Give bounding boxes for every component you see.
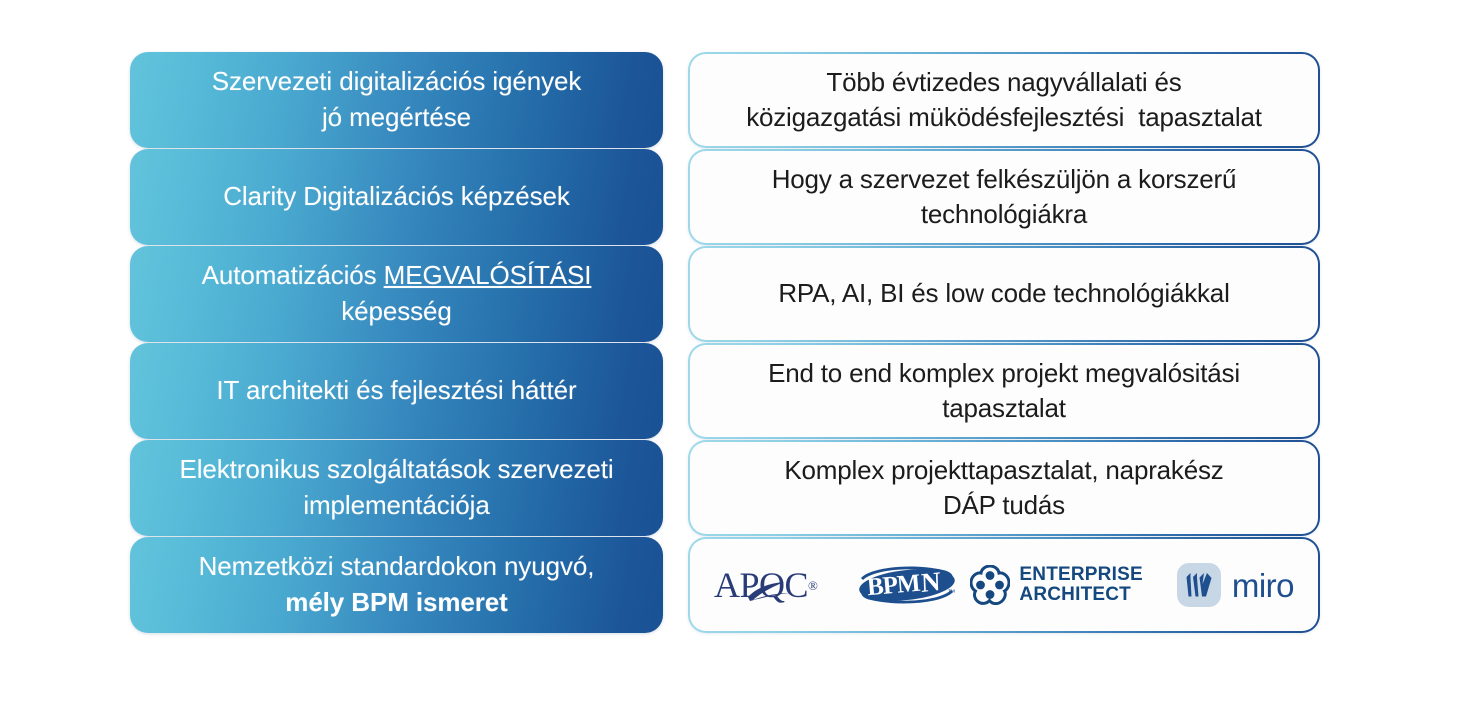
detail-card-inner: End to end komplex projekt megvalósitási… — [690, 345, 1318, 437]
enterprise-architect-clover-icon — [970, 565, 1010, 605]
detail-card[interactable]: Hogy a szervezet felkészüljön a korszerű… — [688, 149, 1320, 245]
pill-line-1: Nemzetközi standardokon nyugvó, — [199, 551, 595, 581]
detail-card-text: RPA, AI, BI és low code technológiákkal — [778, 276, 1229, 311]
capability-pill[interactable]: Elektronikus szolgáltatások szervezeti i… — [130, 440, 663, 536]
detail-card-text: Több évtizedes nagyvállalati és közigazg… — [746, 65, 1262, 136]
capability-row: Elektronikus szolgáltatások szervezeti i… — [0, 440, 1472, 536]
pill-line-1-prefix: Automatizációs — [202, 260, 384, 290]
miro-tile — [1177, 563, 1221, 607]
pill-line-1: Elektronikus szolgáltatások szervezeti — [179, 454, 613, 484]
capability-pill-text: IT architekti és fejlesztési háttér — [216, 373, 576, 409]
miro-logo: miro — [1177, 563, 1294, 607]
slide-canvas: Szervezeti digitalizációs igények jó meg… — [0, 0, 1472, 704]
capability-pill[interactable]: Nemzetközi standardokon nyugvó, mély BPM… — [130, 537, 663, 633]
detail-card[interactable]: RPA, AI, BI és low code technológiákkal — [688, 246, 1320, 342]
detail-card[interactable]: Komplex projekttapasztalat, naprakész DÁ… — [688, 440, 1320, 536]
detail-card-logos[interactable]: APQC® BPM N ™ — [688, 537, 1320, 633]
capability-pill-text: Automatizációs MEGVALÓSÍTÁSI képesség — [202, 258, 592, 329]
bpm-plus-logo: BPM N ™ — [857, 562, 936, 608]
miro-wordmark: miro — [1232, 569, 1294, 602]
bpm-trademark: ™ — [947, 588, 955, 597]
capability-pill[interactable]: Automatizációs MEGVALÓSÍTÁSI képesség — [130, 246, 663, 342]
detail-card-inner: Komplex projekttapasztalat, naprakész DÁ… — [690, 442, 1318, 534]
capability-pill-text: Clarity Digitalizációs képzések — [223, 179, 570, 215]
bpm-n-mark: N — [921, 568, 941, 597]
capability-rows: Szervezeti digitalizációs igények jó meg… — [0, 0, 1472, 704]
logo-strip: APQC® BPM N ™ — [690, 539, 1318, 631]
pill-line-1: Szervezeti digitalizációs igények — [212, 66, 582, 96]
ea-line-1: ENTERPRISE — [1019, 565, 1142, 585]
detail-card-text: Hogy a szervezet felkészüljön a korszerű… — [772, 162, 1237, 233]
capability-row: Nemzetközi standardokon nyugvó, mély BPM… — [0, 537, 1472, 633]
capability-row: Automatizációs MEGVALÓSÍTÁSI képesség RP… — [0, 246, 1472, 342]
apqc-logo: APQC® — [714, 567, 823, 603]
detail-card[interactable]: End to end komplex projekt megvalósitási… — [688, 343, 1320, 439]
apqc-registered-mark: ® — [808, 579, 817, 592]
capability-pill[interactable]: Szervezeti digitalizációs igények jó meg… — [130, 52, 663, 148]
capability-pill[interactable]: IT architekti és fejlesztési háttér — [130, 343, 663, 439]
detail-card-inner: Hogy a szervezet felkészüljön a korszerű… — [690, 151, 1318, 243]
pill-line-1: IT architekti és fejlesztési háttér — [216, 375, 576, 405]
miro-m-icon — [1185, 572, 1213, 598]
pill-line-2: jó megértése — [212, 100, 582, 136]
capability-pill-text: Szervezeti digitalizációs igények jó meg… — [212, 64, 582, 135]
detail-card-text: Komplex projekttapasztalat, naprakész DÁ… — [784, 453, 1223, 524]
capability-row: Clarity Digitalizációs képzések Hogy a s… — [0, 149, 1472, 245]
apqc-swash-icon — [747, 580, 791, 602]
enterprise-architect-wordmark: ENTERPRISE ARCHITECT — [1019, 565, 1142, 605]
ea-line-2: ARCHITECT — [1019, 585, 1142, 605]
pill-line-2: mély BPM ismeret — [199, 585, 595, 621]
capability-row: IT architekti és fejlesztési háttér End … — [0, 343, 1472, 439]
pill-line-2: implementációja — [179, 488, 613, 524]
capability-pill[interactable]: Clarity Digitalizációs képzések — [130, 149, 663, 245]
detail-card-inner: Több évtizedes nagyvállalati és közigazg… — [690, 54, 1318, 146]
bpm-wordmark: BPM — [866, 571, 921, 600]
pill-line-1: Clarity Digitalizációs képzések — [223, 181, 570, 211]
capability-pill-text: Nemzetközi standardokon nyugvó, mély BPM… — [199, 549, 595, 620]
detail-card-text: End to end komplex projekt megvalósitási… — [768, 356, 1240, 427]
capability-pill-text: Elektronikus szolgáltatások szervezeti i… — [179, 452, 613, 523]
pill-line-2: képesség — [202, 294, 592, 330]
detail-card[interactable]: Több évtizedes nagyvállalati és közigazg… — [688, 52, 1320, 148]
pill-line-1-emphasis: MEGVALÓSÍTÁSI — [384, 260, 592, 290]
enterprise-architect-logo: ENTERPRISE ARCHITECT — [970, 565, 1142, 605]
detail-card-inner: RPA, AI, BI és low code technológiákkal — [690, 248, 1318, 340]
capability-row: Szervezeti digitalizációs igények jó meg… — [0, 52, 1472, 148]
